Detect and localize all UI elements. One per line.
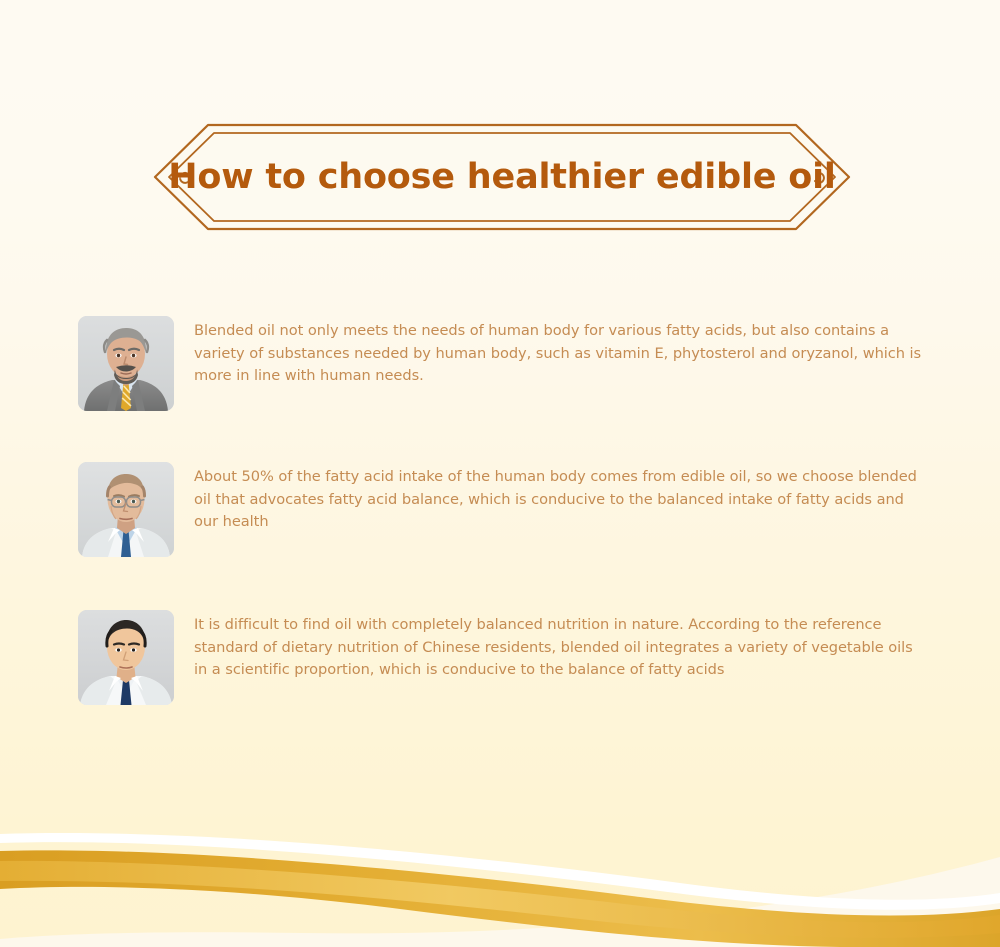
testimonial-row: About 50% of the fatty acid intake of th… [78, 462, 938, 557]
portrait-man-gray-suit-icon [78, 316, 174, 411]
portrait-man-dark-hair-lab-coat-icon [78, 610, 174, 705]
portrait-man-lab-coat-glasses-icon [78, 462, 174, 557]
testimonial-text: About 50% of the fatty acid intake of th… [194, 462, 926, 534]
testimonial-text: It is difficult to find oil with complet… [194, 610, 926, 682]
golden-wave-divider-icon [0, 817, 1000, 947]
poster-page: How to choose healthier edible oil [0, 0, 1000, 947]
testimonial-row: It is difficult to find oil with complet… [78, 610, 938, 705]
testimonial-row: Blended oil not only meets the needs of … [78, 316, 938, 411]
page-title: How to choose healthier edible oil [152, 122, 852, 232]
title-banner: How to choose healthier edible oil [152, 122, 852, 232]
testimonial-text: Blended oil not only meets the needs of … [194, 316, 926, 388]
